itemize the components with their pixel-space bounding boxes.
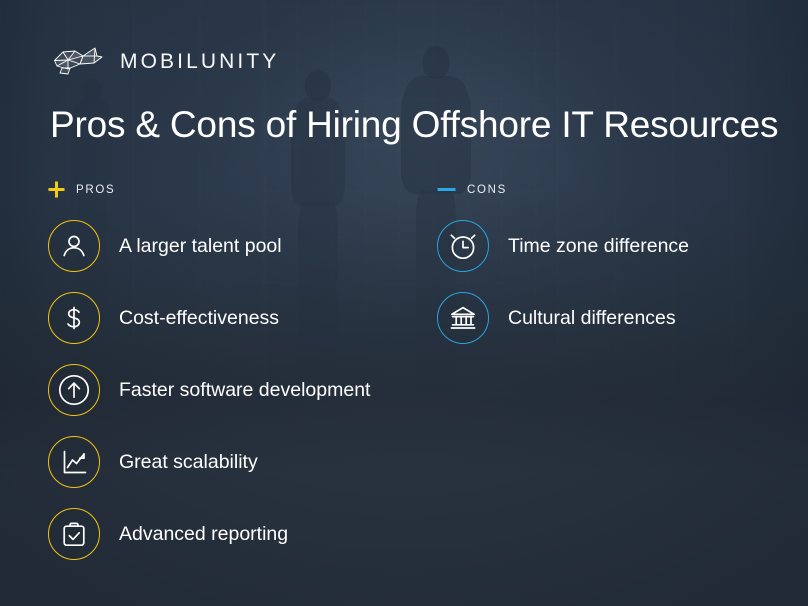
brand-logo: MOBILUNITY xyxy=(50,44,279,80)
plus-icon xyxy=(48,181,65,198)
line-chart-icon xyxy=(48,436,100,488)
list-item[interactable]: Cultural differences xyxy=(437,292,689,344)
clipboard-check-icon xyxy=(48,508,100,560)
list-item-label: Faster software development xyxy=(119,379,370,402)
alarm-clock-icon xyxy=(437,220,489,272)
list-item[interactable]: Time zone difference xyxy=(437,220,689,272)
list-item-label: Cultural differences xyxy=(508,307,676,330)
arrow-up-circle-icon xyxy=(48,364,100,416)
pros-label: PROS xyxy=(76,184,115,196)
list-item[interactable]: Great scalability xyxy=(48,436,370,488)
whale-logo-icon xyxy=(50,44,106,80)
slide-content: MOBILUNITY Pros & Cons of Hiring Offshor… xyxy=(0,0,808,606)
list-item[interactable]: Faster software development xyxy=(48,364,370,416)
page-title: Pros & Cons of Hiring Offshore IT Resour… xyxy=(50,104,778,146)
minus-icon xyxy=(437,181,456,198)
cons-label: CONS xyxy=(467,184,507,196)
bank-building-icon xyxy=(437,292,489,344)
list-item-label: Great scalability xyxy=(119,451,258,474)
list-item-label: A larger talent pool xyxy=(119,235,282,258)
list-item-label: Time zone difference xyxy=(508,235,689,258)
list-item[interactable]: Advanced reporting xyxy=(48,508,370,560)
brand-name: MOBILUNITY xyxy=(120,50,279,74)
dollar-icon xyxy=(48,292,100,344)
pros-list: A larger talent pool Cost-effectiveness xyxy=(48,220,370,560)
cons-column-header: CONS xyxy=(437,181,507,198)
list-item-label: Cost-effectiveness xyxy=(119,307,279,330)
pros-column-header: PROS xyxy=(48,181,115,198)
list-item[interactable]: Cost-effectiveness xyxy=(48,292,370,344)
person-icon xyxy=(48,220,100,272)
list-item-label: Advanced reporting xyxy=(119,523,288,546)
list-item[interactable]: A larger talent pool xyxy=(48,220,370,272)
infographic-slide: MOBILUNITY Pros & Cons of Hiring Offshor… xyxy=(0,0,808,606)
cons-list: Time zone difference Cultural difference… xyxy=(437,220,689,344)
